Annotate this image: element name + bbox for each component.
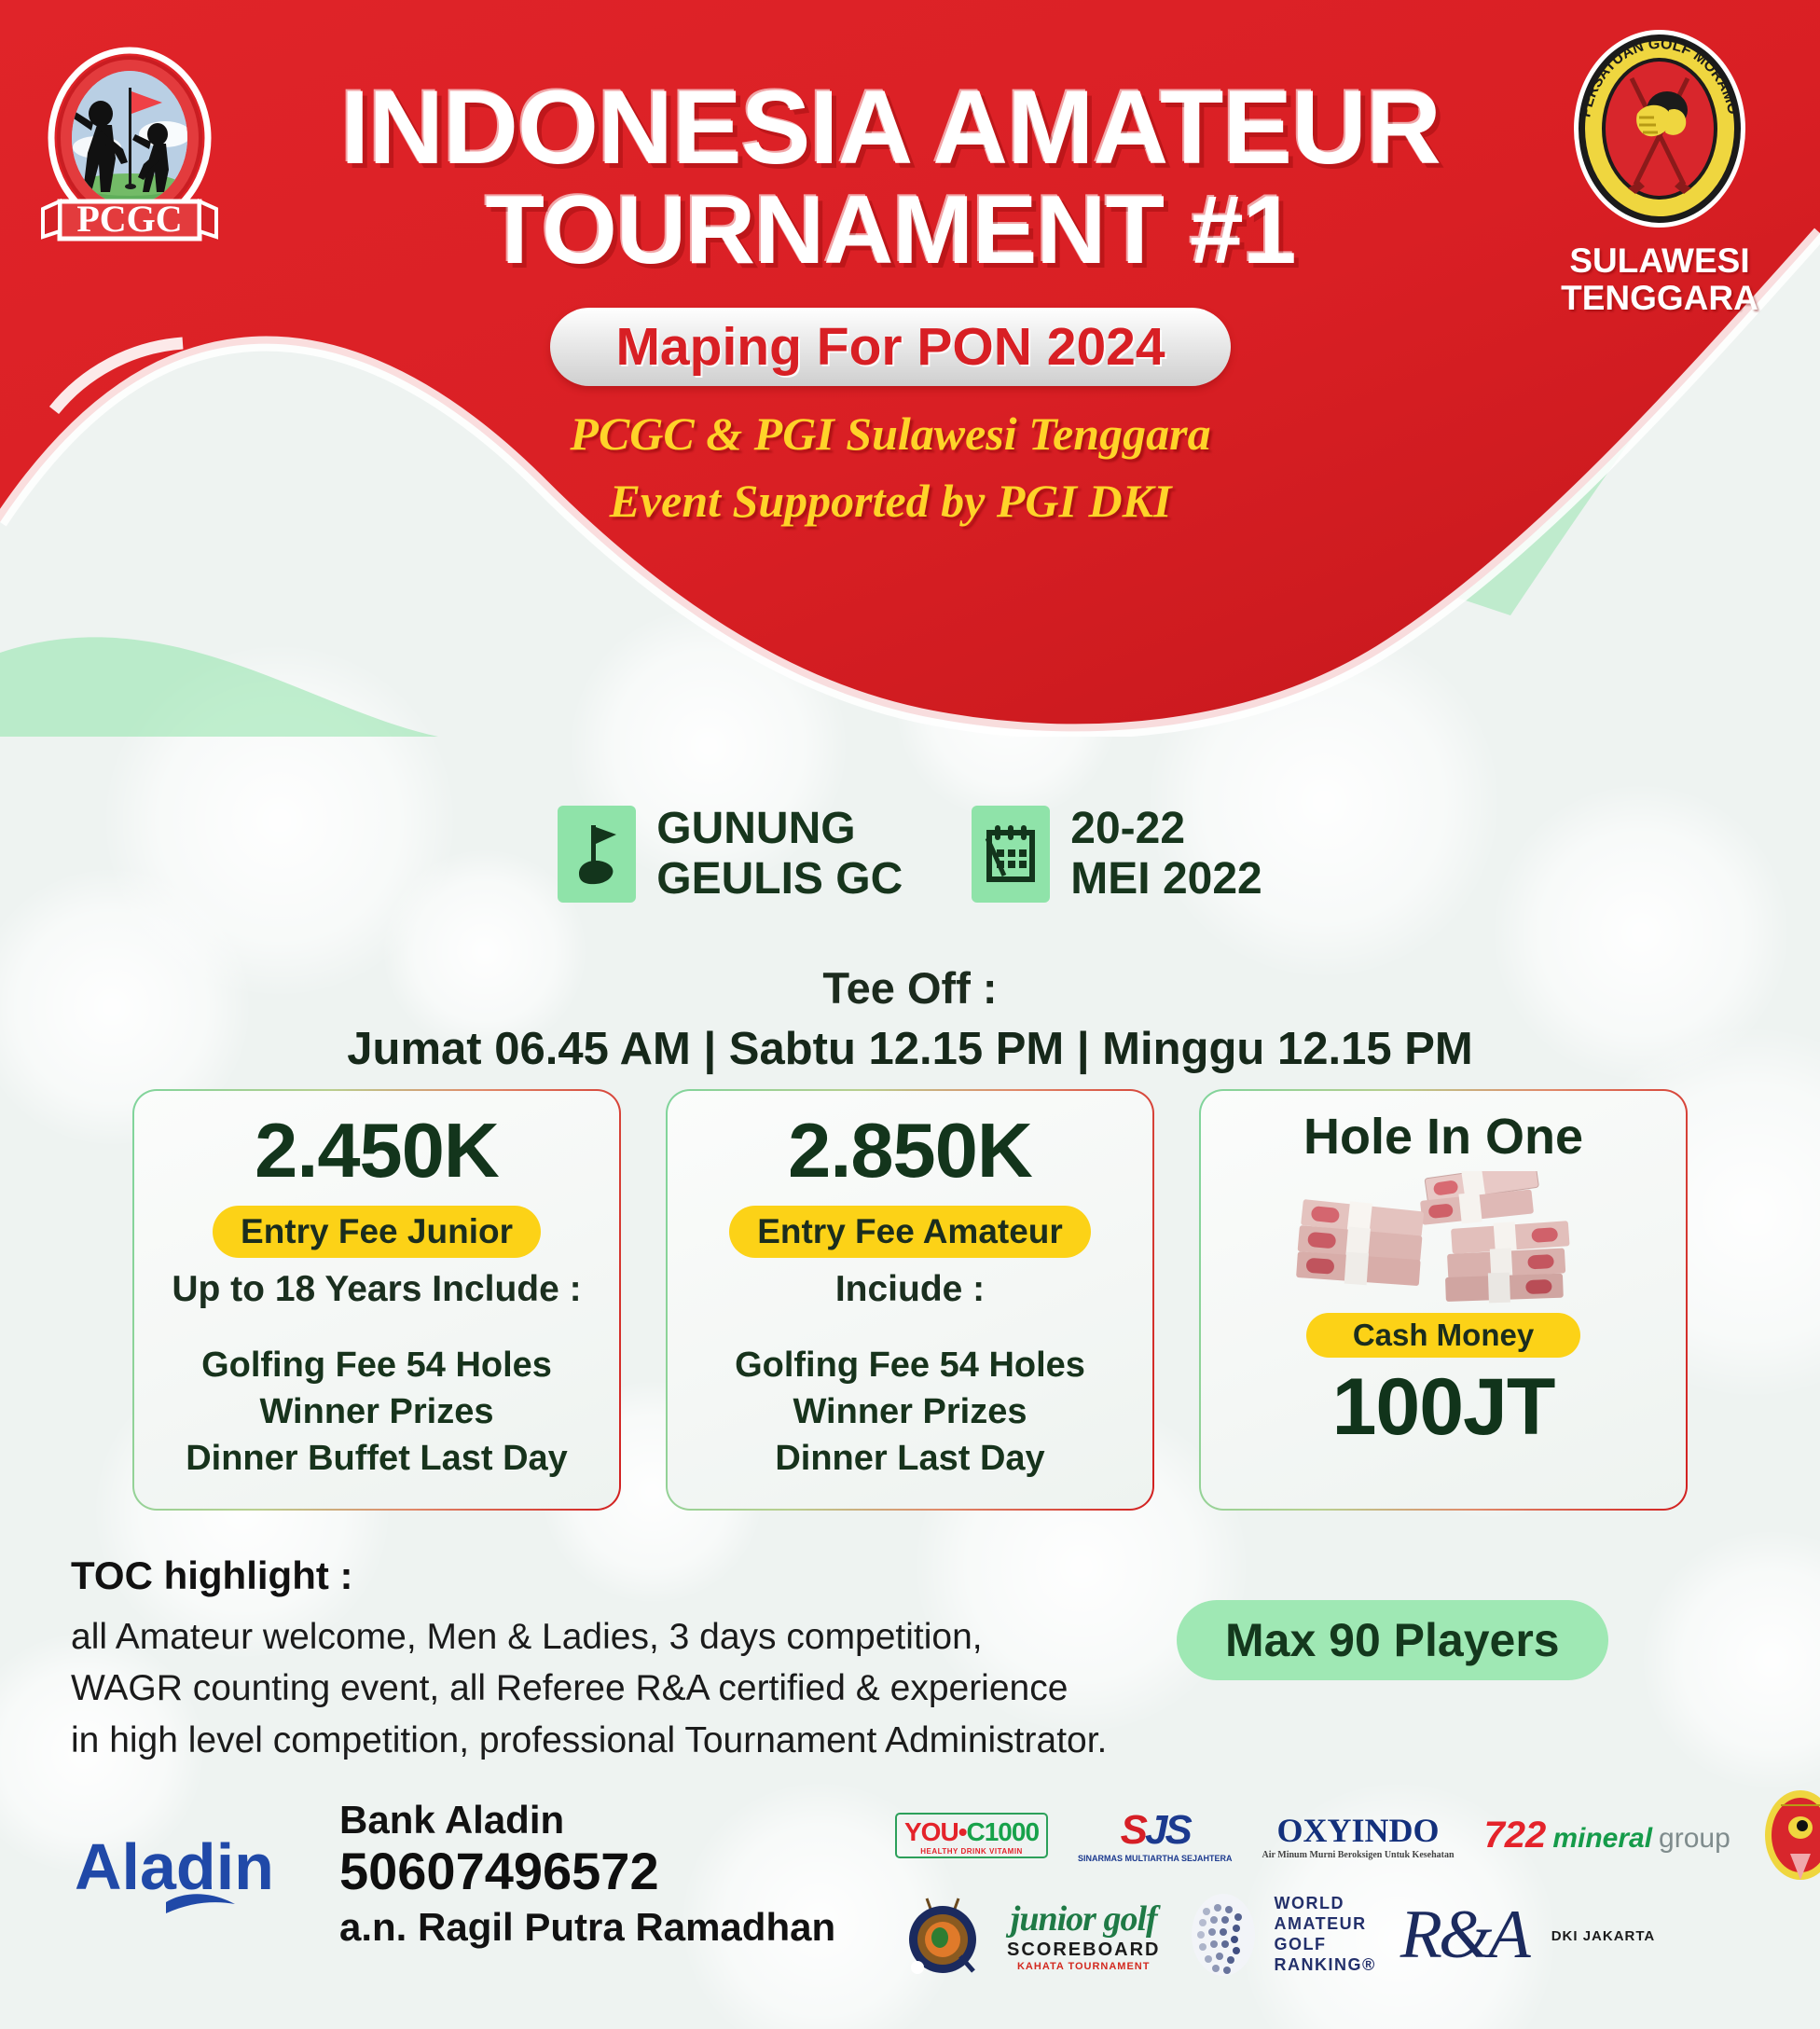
sponsor-logos-block: YOU•C1000 HEALTHY DRINK VITAMIN SJS SINA… bbox=[895, 1783, 1820, 2029]
region-label: SULAWESI TENGGARA bbox=[1537, 242, 1783, 317]
hole-in-one-card: Hole In One bbox=[1199, 1089, 1688, 1511]
sponsor-logo-sjs: SJS SINARMAS MULTIARTHA SEJAHTERA bbox=[1078, 1807, 1233, 1863]
aladin-logo-text: Aladin bbox=[75, 1830, 274, 1903]
date-line-2: MEI 2022 bbox=[1070, 854, 1262, 904]
tagline-text: Maping For PON 2024 bbox=[615, 316, 1165, 378]
junior-golf-scoreboard: SCOREBOARD bbox=[1007, 1939, 1160, 1961]
venue-line-1: GUNUNG bbox=[656, 804, 903, 854]
hole-in-one-title: Hole In One bbox=[1303, 1111, 1583, 1162]
tee-off-label: Tee Off : bbox=[0, 962, 1820, 1014]
pgi-sulawesi-logo-block: PERSATUAN GOLF MORAMO SULAWESI TENGGARA bbox=[1537, 21, 1783, 317]
g722-number: 722 bbox=[1484, 1815, 1547, 1856]
card-feature-list: Golfing Fee 54 Holes Winner Prizes Dinne… bbox=[186, 1342, 568, 1482]
entry-fee-amateur-card: 2.850K Entry Fee Amateur Inciude : Golfi… bbox=[666, 1089, 1154, 1511]
sponsor-logo-you-c1000: YOU•C1000 HEALTHY DRINK VITAMIN bbox=[895, 1813, 1048, 1858]
golf-flag-icon bbox=[558, 806, 636, 903]
card-price: 2.450K bbox=[255, 1111, 499, 1189]
entry-fee-junior-card: 2.450K Entry Fee Junior Up to 18 Years I… bbox=[132, 1089, 621, 1511]
card-feature-item: Winner Prizes bbox=[735, 1388, 1085, 1435]
page-title-line-1: INDONESIA AMATEUR bbox=[280, 75, 1501, 181]
sjs-s2: S bbox=[1165, 1807, 1190, 1853]
card-badge: Entry Fee Amateur bbox=[729, 1206, 1091, 1258]
venue-info: GUNUNG GEULIS GC bbox=[558, 804, 903, 904]
region-label-line-1: SULAWESI bbox=[1537, 242, 1783, 280]
pgi-moramo-crest-icon: PERSATUAN GOLF MORAMO bbox=[1565, 21, 1755, 237]
pcgc-club-crest-icon bbox=[903, 1891, 983, 1979]
sjs-j: J bbox=[1145, 1807, 1165, 1853]
cash-money-stacks-image bbox=[1285, 1171, 1602, 1311]
g722-group: group bbox=[1659, 1823, 1730, 1855]
wagr-line-2: AMATEUR bbox=[1274, 1914, 1375, 1935]
calendar-icon bbox=[972, 806, 1050, 903]
card-include-line: Up to 18 Years Include : bbox=[172, 1269, 581, 1310]
toc-line: WAGR counting event, all Referee R&A cer… bbox=[71, 1663, 1107, 1714]
wagr-line-3: GOLF bbox=[1274, 1935, 1375, 1955]
region-label-line-2: TENGGARA bbox=[1537, 280, 1783, 317]
bank-name: Bank Aladin bbox=[339, 1798, 835, 1843]
card-badge: Entry Fee Junior bbox=[213, 1206, 541, 1258]
sponsor-logo-r-and-a: R&A bbox=[1400, 1900, 1527, 1969]
sjs-tagline: SINARMAS MULTIARTHA SEJAHTERA bbox=[1078, 1854, 1233, 1863]
junior-golf-wordmark: junior golf bbox=[1011, 1898, 1157, 1939]
wagr-line-1: WORLD bbox=[1274, 1894, 1375, 1914]
you-c1000-c: C1000 bbox=[967, 1817, 1040, 1846]
you-c1000-you: YOU bbox=[904, 1817, 958, 1846]
card-include-line: Inciude : bbox=[835, 1269, 985, 1310]
sponsor-logo-world-amateur-golf-ranking: WORLD AMATEUR GOLF RANKING® bbox=[1184, 1891, 1375, 1979]
cash-money-badge: Cash Money bbox=[1306, 1313, 1580, 1358]
oxyindo-name: OXYINDO bbox=[1277, 1811, 1440, 1850]
hole-in-one-amount: 100JT bbox=[1332, 1361, 1555, 1454]
card-price: 2.850K bbox=[788, 1111, 1032, 1189]
card-feature-item: Golfing Fee 54 Holes bbox=[186, 1342, 568, 1388]
card-feature-item: Dinner Buffet Last Day bbox=[186, 1435, 568, 1482]
page-title-line-2: TOURNAMENT #1 bbox=[280, 181, 1501, 280]
sponsor-logo-dki-jakarta: DKI JAKARTA bbox=[1551, 1926, 1656, 1944]
tee-off-times: Jumat 06.45 AM | Sabtu 12.15 PM | Minggu… bbox=[0, 1023, 1820, 1075]
oxyindo-tagline: Air Minum Murni Beroksigen Untuk Kesehat… bbox=[1262, 1850, 1455, 1860]
toc-line: all Amateur welcome, Men & Ladies, 3 day… bbox=[71, 1611, 1107, 1663]
toc-title: TOC highlight : bbox=[71, 1553, 1107, 1598]
toc-highlight-block: TOC highlight : all Amateur welcome, Men… bbox=[71, 1553, 1107, 1766]
title-block: INDONESIA AMATEUR TOURNAMENT #1 Maping F… bbox=[280, 75, 1501, 528]
card-feature-list: Golfing Fee 54 Holes Winner Prizes Dinne… bbox=[735, 1342, 1085, 1482]
sponsor-logo-junior-golf-scoreboard: junior golf SCOREBOARD KAHATA TOURNAMENT bbox=[1007, 1898, 1160, 1972]
sponsor-row-top: YOU•C1000 HEALTHY DRINK VITAMIN SJS SINA… bbox=[895, 1787, 1820, 1884]
sponsor-row-bottom: junior golf SCOREBOARD KAHATA TOURNAMENT bbox=[903, 1891, 1655, 1979]
g722-mineral: mineral bbox=[1552, 1823, 1652, 1855]
toc-body: all Amateur welcome, Men & Ladies, 3 day… bbox=[71, 1611, 1107, 1766]
max-players-badge: Max 90 Players bbox=[1177, 1600, 1608, 1680]
you-c1000-tagline: HEALTHY DRINK VITAMIN bbox=[920, 1847, 1023, 1856]
sponsor-logo-oxyindo: OXYINDO Air Minum Murni Beroksigen Untuk… bbox=[1262, 1811, 1455, 1860]
dki-jakarta-label: DKI JAKARTA bbox=[1551, 1928, 1656, 1944]
subtitle-line-1: PCGC & PGI Sulawesi Tenggara bbox=[280, 407, 1501, 461]
date-line-1: 20-22 bbox=[1070, 804, 1262, 854]
you-c1000-dot: • bbox=[958, 1817, 967, 1846]
card-feature-item: Winner Prizes bbox=[186, 1388, 568, 1435]
pcgc-logo: PCGC bbox=[39, 45, 220, 250]
tee-off-block: Tee Off : Jumat 06.45 AM | Sabtu 12.15 P… bbox=[0, 962, 1820, 1075]
venue-line-2: GEULIS GC bbox=[656, 854, 903, 904]
bank-details-block: Aladin Bank Aladin 50607496572 a.n. Ragi… bbox=[75, 1798, 835, 1950]
pgi-dki-jakarta-crest-icon bbox=[1760, 1787, 1820, 1884]
event-meta-row: GUNUNG GEULIS GC 20-22 MEI 2022 bbox=[0, 804, 1820, 904]
poster-header: PCGC INDONESIA AMATEUR TOURNAMENT #1 Map… bbox=[0, 0, 1820, 737]
tagline-pill: Maping For PON 2024 bbox=[550, 308, 1231, 386]
pcgc-logo-label: PCGC bbox=[76, 198, 182, 240]
card-feature-item: Dinner Last Day bbox=[735, 1435, 1085, 1482]
subtitle-line-2: Event Supported by PGI DKI bbox=[280, 474, 1501, 528]
pricing-cards-row: 2.450K Entry Fee Junior Up to 18 Years I… bbox=[0, 1089, 1820, 1511]
junior-golf-subline: KAHATA TOURNAMENT bbox=[1017, 1961, 1150, 1972]
card-feature-item: Golfing Fee 54 Holes bbox=[735, 1342, 1085, 1388]
date-info: 20-22 MEI 2022 bbox=[972, 804, 1262, 904]
golf-ball-icon bbox=[1184, 1891, 1262, 1979]
sponsor-logo-722-mineral-group: 722 mineral group bbox=[1484, 1815, 1730, 1856]
bank-account-holder: a.n. Ragil Putra Ramadhan bbox=[339, 1905, 835, 1950]
wagr-line-4: RANKING® bbox=[1274, 1955, 1375, 1976]
aladin-bank-logo: Aladin bbox=[75, 1822, 308, 1934]
toc-line: in high level competition, professional … bbox=[71, 1715, 1107, 1766]
venue-text: GUNUNG GEULIS GC bbox=[656, 804, 903, 904]
sjs-s1: S bbox=[1121, 1807, 1145, 1853]
bank-account-number: 50607496572 bbox=[339, 1843, 835, 1901]
date-text: 20-22 MEI 2022 bbox=[1070, 804, 1262, 904]
